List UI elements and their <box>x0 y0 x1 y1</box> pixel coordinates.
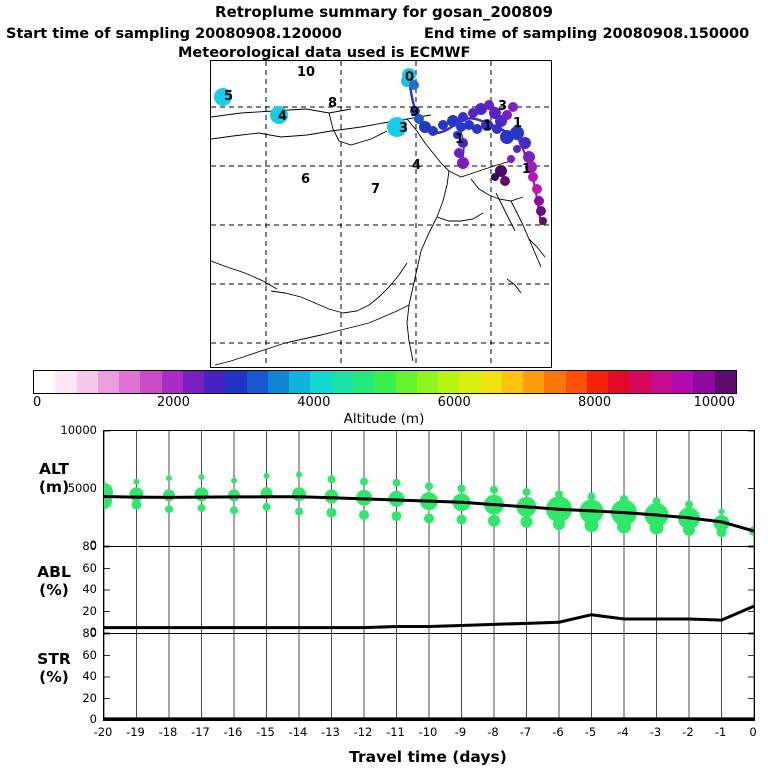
colorbar-swatch <box>77 371 98 393</box>
x-tick-label: -12 <box>350 725 376 739</box>
x-tick-label: -4 <box>610 725 636 739</box>
y-tick-label: 60 <box>57 648 97 662</box>
map-day-label: 1 <box>513 116 522 131</box>
map-day-label: 0 <box>405 70 414 85</box>
colorbar-swatch <box>502 371 523 393</box>
panel-str-plot <box>104 634 754 720</box>
altitude-colorbar <box>33 370 737 394</box>
retroplume-map: 10 5 8 4 0 9 3 6 7 4 1 3 1 1 1 <box>210 60 552 368</box>
map-day-label: 7 <box>371 182 380 197</box>
map-day-label: 4 <box>412 158 421 173</box>
page-title: Retroplume summary for gosan_200809 <box>0 3 768 21</box>
colorbar-swatch <box>651 371 672 393</box>
x-tick-label: -20 <box>90 725 116 739</box>
map-day-label: 1 <box>522 162 531 177</box>
x-tick-label: -14 <box>285 725 311 739</box>
y-tick-label: 20 <box>57 691 97 705</box>
x-tick-label: -2 <box>675 725 701 739</box>
colorbar-swatch <box>310 371 331 393</box>
colorbar-swatch <box>396 371 417 393</box>
y-tick-label: 80 <box>57 539 97 553</box>
map-day-label: 3 <box>498 99 507 114</box>
x-tick-label: -9 <box>448 725 474 739</box>
y-tick-label: 60 <box>57 561 97 575</box>
x-axis-label: Travel time (days) <box>103 748 753 766</box>
colorbar-swatch <box>693 371 714 393</box>
colorbar-swatch <box>225 371 246 393</box>
colorbar-swatch <box>247 371 268 393</box>
colorbar-swatch <box>715 371 736 393</box>
colorbar-swatch <box>34 371 55 393</box>
x-tick-label: -18 <box>155 725 181 739</box>
y-tick-label: 5000 <box>57 481 97 495</box>
map-day-label: 9 <box>410 105 419 120</box>
x-tick-label: -11 <box>383 725 409 739</box>
end-time-label: End time of sampling 20080908.150000 <box>424 26 749 42</box>
y-tick-label: 20 <box>57 604 97 618</box>
colorbar-swatch <box>417 371 438 393</box>
panel-abl-plot <box>104 547 754 633</box>
map-day-label: 4 <box>278 109 287 124</box>
colorbar-swatch <box>183 371 204 393</box>
met-data-label: Meteorological data used is ECMWF <box>178 45 470 61</box>
map-day-label: 5 <box>224 89 233 104</box>
y-tick-label: 40 <box>57 669 97 683</box>
colorbar-tick: 2000 <box>157 395 190 410</box>
colorbar-tick: 8000 <box>578 395 611 410</box>
x-tick-label: -10 <box>415 725 441 739</box>
x-tick-label: -15 <box>253 725 279 739</box>
x-tick-label: -8 <box>480 725 506 739</box>
abl-panel <box>103 546 755 634</box>
map-day-label: 3 <box>399 121 408 136</box>
map-day-label: 10 <box>297 65 315 80</box>
y-tick-label: 10000 <box>57 423 97 437</box>
colorbar-swatch <box>140 371 161 393</box>
map-day-label: 1 <box>483 119 492 134</box>
colorbar-swatch <box>119 371 140 393</box>
y-tick-label: 40 <box>57 582 97 596</box>
map-day-label: 8 <box>328 96 337 111</box>
x-tick-label: -3 <box>643 725 669 739</box>
colorbar-swatch <box>98 371 119 393</box>
colorbar-swatch <box>289 371 310 393</box>
alt-panel <box>103 430 755 547</box>
x-tick-label: -5 <box>578 725 604 739</box>
colorbar-label: Altitude (m) <box>0 411 768 427</box>
colorbar-swatch <box>544 371 565 393</box>
x-tick-label: -16 <box>220 725 246 739</box>
map-day-label: 1 <box>455 132 464 147</box>
str-panel <box>103 633 755 721</box>
colorbar-swatch <box>438 371 459 393</box>
colorbar-swatch <box>353 371 374 393</box>
y-tick-label: 80 <box>57 626 97 640</box>
x-tick-label: -13 <box>318 725 344 739</box>
colorbar-swatch <box>481 371 502 393</box>
colorbar-swatch <box>268 371 289 393</box>
colorbar-swatch <box>629 371 650 393</box>
colorbar-swatch <box>672 371 693 393</box>
x-tick-label: -7 <box>513 725 539 739</box>
colorbar-swatch <box>204 371 225 393</box>
colorbar-tick: 4000 <box>297 395 330 410</box>
start-time-label: Start time of sampling 20080908.120000 <box>6 26 342 42</box>
panel-alt-plot <box>104 431 754 546</box>
x-tick-label: -1 <box>708 725 734 739</box>
colorbar-swatch <box>459 371 480 393</box>
map-day-label: 6 <box>301 172 310 187</box>
colorbar-swatch <box>566 371 587 393</box>
colorbar-swatch <box>608 371 629 393</box>
colorbar-swatch <box>55 371 76 393</box>
colorbar-swatch <box>332 371 353 393</box>
y-tick-label: 0 <box>57 712 97 726</box>
x-tick-label: -19 <box>123 725 149 739</box>
colorbar-tick: 10000 <box>694 395 735 410</box>
colorbar-tick: 0 <box>33 395 41 410</box>
colorbar-swatch <box>587 371 608 393</box>
colorbar-swatch <box>523 371 544 393</box>
colorbar-swatch <box>374 371 395 393</box>
colorbar-tick: 6000 <box>438 395 471 410</box>
colorbar-swatch <box>162 371 183 393</box>
x-tick-label: -6 <box>545 725 571 739</box>
x-tick-label: -17 <box>188 725 214 739</box>
x-tick-label: 0 <box>740 725 766 739</box>
